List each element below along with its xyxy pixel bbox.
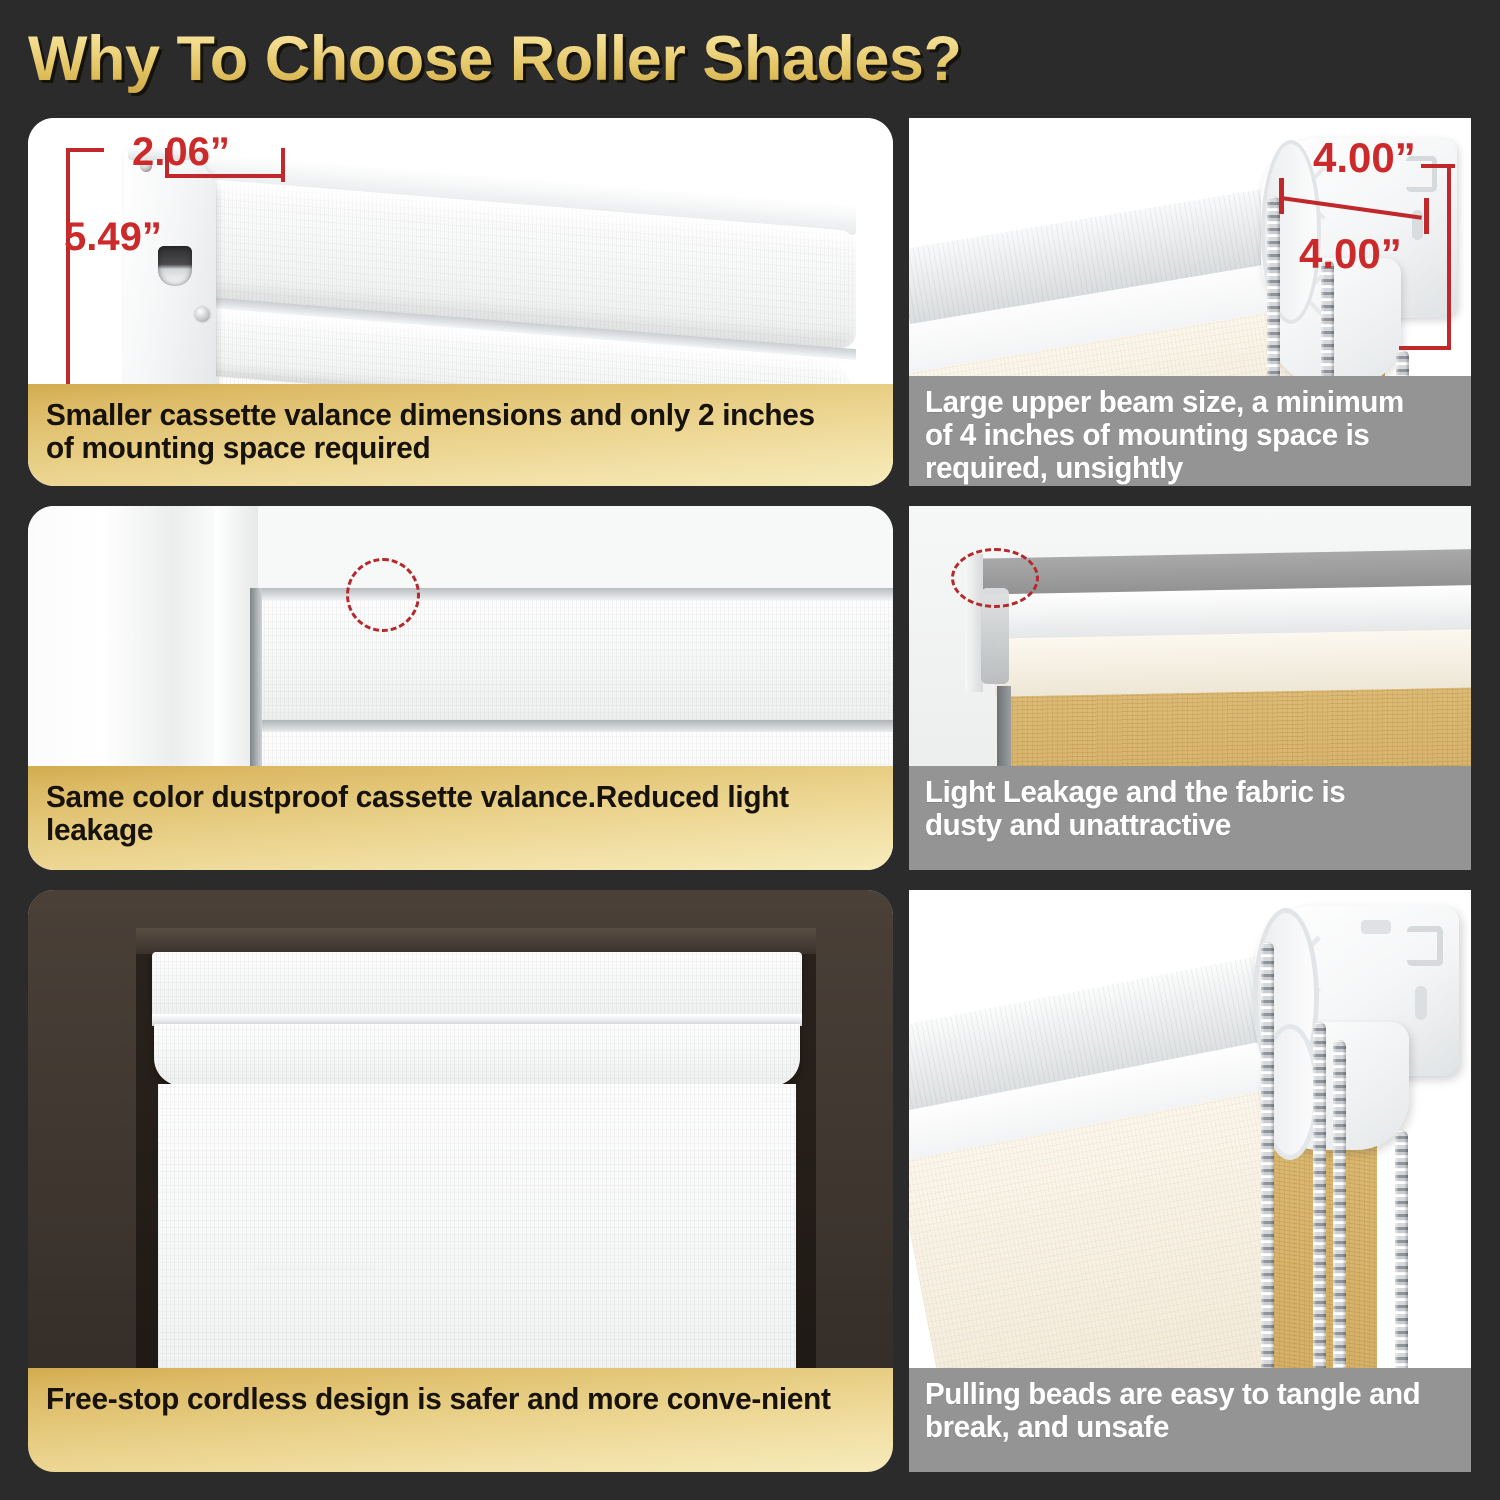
panel-top-right: 4.00” 4.00” Large upper beam size, a min… [909, 118, 1471, 486]
caption-bottom-left-text: Free-stop cordless design is safer and m… [46, 1382, 831, 1415]
cream-valance-band [995, 629, 1471, 696]
shade-band-1 [256, 598, 893, 720]
dim-height-label-top-left: 5.49” [64, 215, 162, 260]
window-reveal-top [136, 928, 816, 954]
dim-beam-width-tick-right [1424, 198, 1429, 234]
end-cap-screw-mid [195, 307, 210, 322]
page-title: Why To Choose Roller Shades? [28, 18, 1468, 100]
caption-top-right-text: Large upper beam size, a minimum of 4 in… [925, 386, 1429, 485]
dim-beam-width-label: 4.00” [1313, 134, 1416, 182]
shade-rail-2 [256, 720, 893, 732]
bracket-mount-slot-top [1407, 926, 1443, 966]
caption-bottom-right: Pulling beads are easy to tangle and bre… [909, 1368, 1471, 1472]
caption-mid-right-text: Light Leakage and the fabric is dusty an… [925, 776, 1429, 842]
panel-top-left: 2.06” 5.49” Smaller cassette valance dim… [28, 118, 893, 486]
caption-bottom-right-text: Pulling beads are easy to tangle and bre… [925, 1378, 1429, 1444]
dim-beam-width-tick-left [1279, 178, 1284, 214]
caption-top-right: Large upper beam size, a minimum of 4 in… [909, 376, 1471, 486]
bracket-notch-top [1361, 920, 1391, 934]
dim-height-tick-top [66, 148, 104, 152]
caption-bottom-left: Free-stop cordless design is safer and m… [28, 1368, 893, 1472]
valance-cassette [152, 952, 802, 1018]
panel-bottom-left: Free-stop cordless design is safer and m… [28, 890, 893, 1472]
panel-mid-left: smaller gap Same color dustproof cassett… [28, 506, 893, 870]
caption-mid-right: Light Leakage and the fabric is dusty an… [909, 766, 1471, 870]
dim-beam-height-label: 4.00” [1299, 230, 1402, 278]
bracket-mount-slot-side [1415, 986, 1427, 1020]
panel-bottom-right: Pulling beads are easy to tangle and bre… [909, 890, 1471, 1472]
dustproof-highlight-circle [346, 558, 420, 632]
dim-beam-height-tick-top [1421, 164, 1455, 168]
caption-mid-left: Same color dustproof cassette valance.Re… [28, 766, 893, 870]
caption-top-left-text: Smaller cassette valance dimensions and … [46, 398, 842, 464]
panel-mid-right: Large gap Light Leakage and the fabric i… [909, 506, 1471, 870]
caption-top-left: Smaller cassette valance dimensions and … [28, 384, 893, 486]
end-cap-free-stop-port [158, 246, 192, 286]
infographic-root: Why To Choose Roller Shades? Why To Choo… [0, 0, 1500, 1500]
caption-mid-left-text: Same color dustproof cassette valance.Re… [46, 780, 842, 846]
dim-width-tick-right [281, 148, 285, 182]
dim-beam-height-line [1447, 164, 1451, 350]
valance-roll [154, 1024, 800, 1086]
dim-beam-height-tick-bottom [1399, 346, 1451, 350]
dim-width-label: 2.06” [132, 130, 230, 175]
light-leak-highlight-circle [951, 548, 1039, 608]
